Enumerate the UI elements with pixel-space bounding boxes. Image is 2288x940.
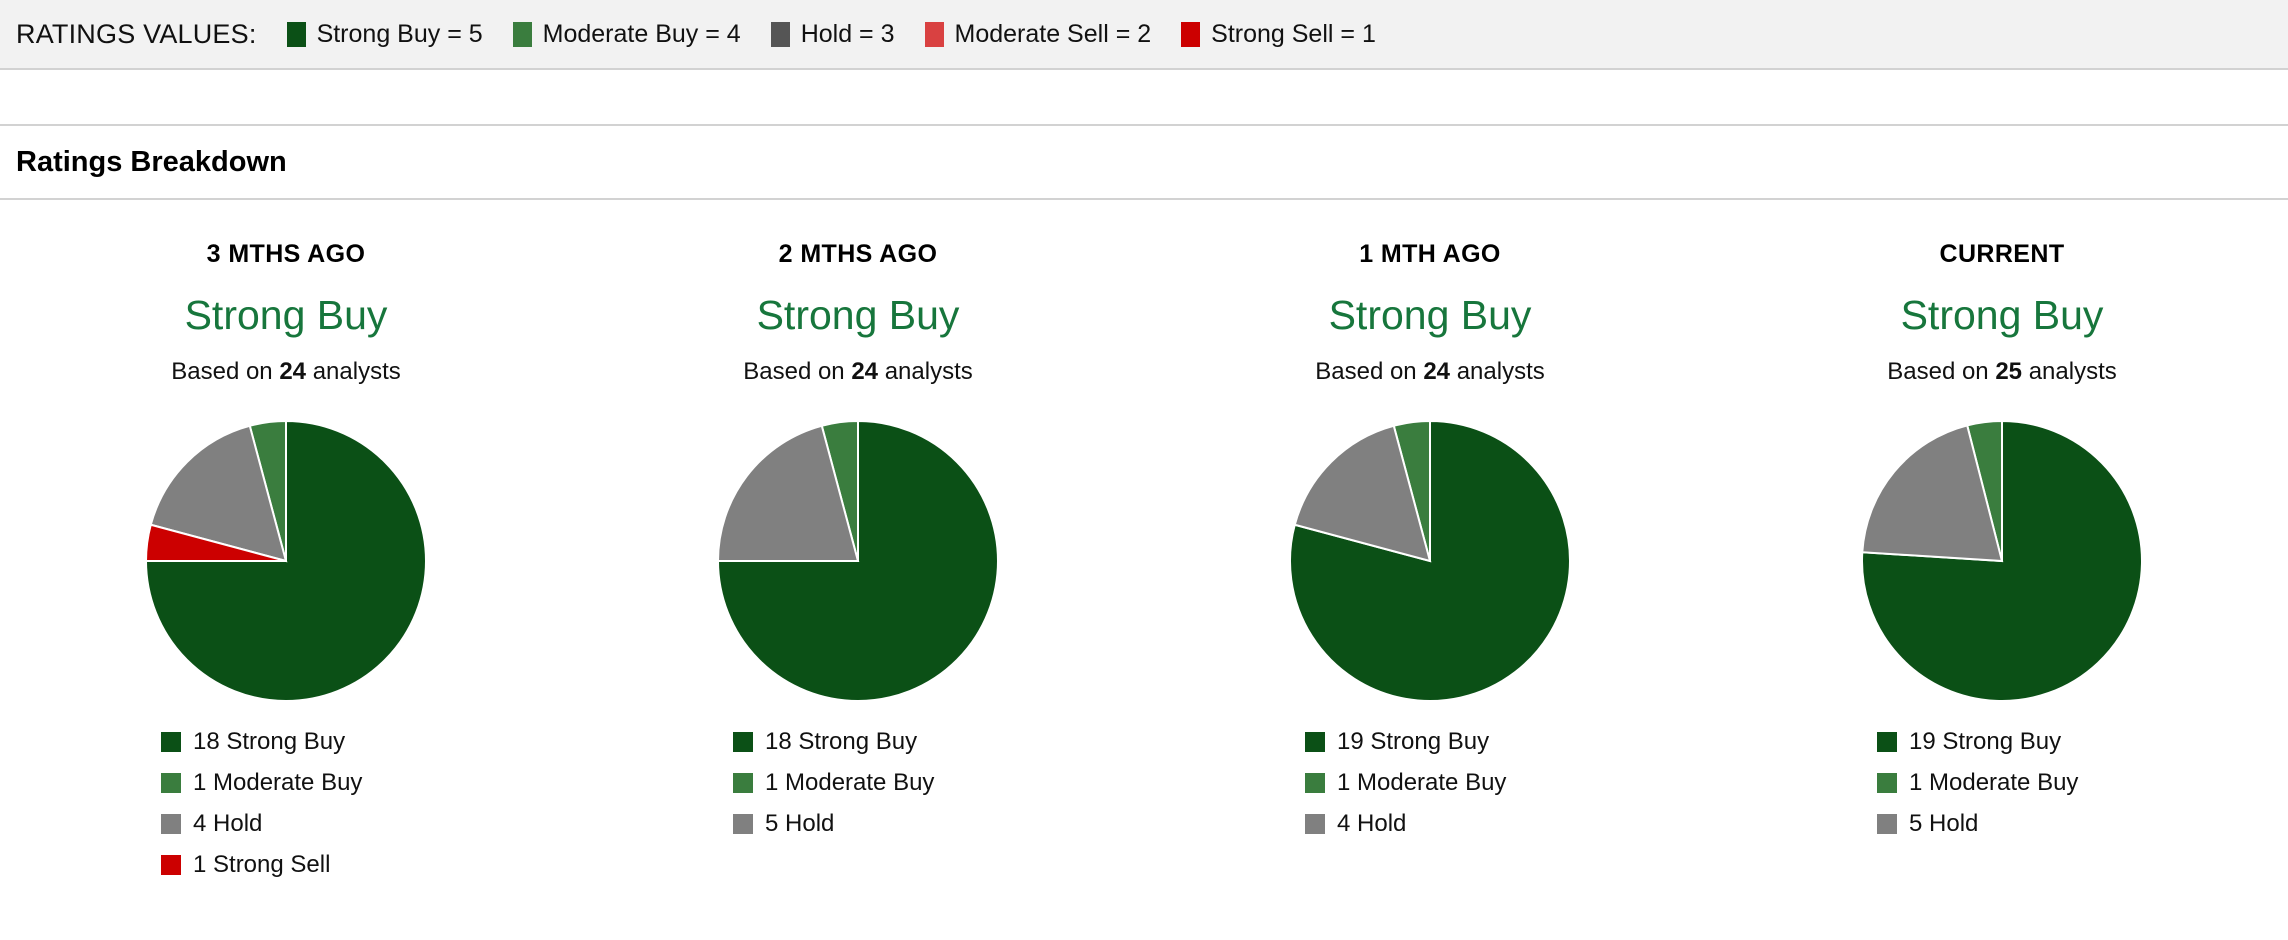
pie-chart-3-mths-ago[interactable] bbox=[141, 416, 431, 706]
column-consensus-rating: Strong Buy bbox=[757, 295, 960, 336]
column-period-label: 1 MTH AGO bbox=[1359, 240, 1501, 269]
pie-legend-label: 5 Hold bbox=[1909, 810, 1978, 838]
pie-legend-2-mths-ago: 18 Strong Buy1 Moderate Buy5 Hold bbox=[733, 728, 983, 838]
pie-legend-swatch-icon bbox=[1877, 732, 1897, 752]
pie-legend-swatch-icon bbox=[1305, 732, 1325, 752]
pie-legend-1-mth-ago: 19 Strong Buy1 Moderate Buy4 Hold bbox=[1305, 728, 1555, 838]
ratings-values-title: RATINGS VALUES: bbox=[16, 19, 257, 50]
pie-legend-row: 1 Moderate Buy bbox=[161, 769, 411, 797]
column-analyst-basis: Based on 25 analysts bbox=[1887, 358, 2117, 386]
ratings-value-strong-buy: Strong Buy = 5 bbox=[287, 20, 483, 49]
pie-chart-2-mths-ago[interactable] bbox=[713, 416, 1003, 706]
ratings-breakdown-header: Ratings Breakdown bbox=[0, 124, 2288, 200]
pie-legend-row: 18 Strong Buy bbox=[161, 728, 411, 756]
section-title: Ratings Breakdown bbox=[16, 146, 287, 179]
basis-prefix: Based on bbox=[1315, 358, 1423, 385]
pie-legend-label: 5 Hold bbox=[765, 810, 834, 838]
pie-legend-swatch-icon bbox=[733, 814, 753, 834]
pie-svg bbox=[1285, 416, 1575, 706]
ratings-value-label: Strong Sell = 1 bbox=[1211, 20, 1376, 49]
basis-suffix: analysts bbox=[306, 358, 401, 385]
pie-legend-row: 1 Moderate Buy bbox=[1305, 769, 1555, 797]
pie-legend-row: 18 Strong Buy bbox=[733, 728, 983, 756]
pie-legend-row: 4 Hold bbox=[161, 810, 411, 838]
column-period-label: 3 MTHS AGO bbox=[207, 240, 366, 269]
spacer bbox=[0, 70, 2288, 124]
swatch-strong-sell-icon bbox=[1181, 22, 1200, 47]
ratings-value-hold: Hold = 3 bbox=[771, 20, 895, 49]
pie-svg bbox=[141, 416, 431, 706]
pie-legend-label: 1 Moderate Buy bbox=[193, 769, 362, 797]
pie-legend-swatch-icon bbox=[1877, 814, 1897, 834]
basis-prefix: Based on bbox=[171, 358, 279, 385]
pie-legend-swatch-icon bbox=[1305, 773, 1325, 793]
analyst-count: 24 bbox=[279, 358, 306, 385]
column-consensus-rating: Strong Buy bbox=[1329, 295, 1532, 336]
pie-legend-swatch-icon bbox=[1305, 814, 1325, 834]
ratings-values-bar: RATINGS VALUES: Strong Buy = 5 Moderate … bbox=[0, 0, 2288, 70]
basis-suffix: analysts bbox=[1450, 358, 1545, 385]
pie-legend-label: 4 Hold bbox=[193, 810, 262, 838]
swatch-hold-icon bbox=[771, 22, 790, 47]
column-consensus-rating: Strong Buy bbox=[185, 295, 388, 336]
basis-prefix: Based on bbox=[743, 358, 851, 385]
column-analyst-basis: Based on 24 analysts bbox=[171, 358, 401, 386]
pie-legend-swatch-icon bbox=[161, 814, 181, 834]
pie-legend-label: 18 Strong Buy bbox=[765, 728, 917, 756]
pie-legend-label: 1 Moderate Buy bbox=[765, 769, 934, 797]
ratings-value-moderate-sell: Moderate Sell = 2 bbox=[925, 20, 1152, 49]
column-period-label: CURRENT bbox=[1939, 240, 2064, 269]
pie-legend-swatch-icon bbox=[161, 732, 181, 752]
pie-legend-swatch-icon bbox=[733, 732, 753, 752]
pie-legend-row: 5 Hold bbox=[1877, 810, 2127, 838]
ratings-breakdown-grid: 3 MTHS AGO Strong Buy Based on 24 analys… bbox=[0, 200, 2288, 879]
pie-chart-current[interactable] bbox=[1857, 416, 2147, 706]
pie-legend-row: 1 Moderate Buy bbox=[733, 769, 983, 797]
analyst-count: 25 bbox=[1995, 358, 2022, 385]
ratings-column-current: CURRENT Strong Buy Based on 25 analysts … bbox=[1716, 240, 2288, 879]
pie-chart-1-mth-ago[interactable] bbox=[1285, 416, 1575, 706]
pie-svg bbox=[713, 416, 1003, 706]
pie-legend-label: 1 Strong Sell bbox=[193, 851, 330, 879]
ratings-value-label: Hold = 3 bbox=[801, 20, 895, 49]
pie-legend-label: 1 Moderate Buy bbox=[1909, 769, 2078, 797]
basis-suffix: analysts bbox=[2022, 358, 2117, 385]
basis-prefix: Based on bbox=[1887, 358, 1995, 385]
pie-legend-label: 18 Strong Buy bbox=[193, 728, 345, 756]
pie-legend-row: 1 Strong Sell bbox=[161, 851, 411, 879]
pie-legend-row: 19 Strong Buy bbox=[1305, 728, 1555, 756]
ratings-value-label: Moderate Buy = 4 bbox=[543, 20, 741, 49]
ratings-value-label: Strong Buy = 5 bbox=[317, 20, 483, 49]
pie-legend-swatch-icon bbox=[1877, 773, 1897, 793]
column-consensus-rating: Strong Buy bbox=[1901, 295, 2104, 336]
pie-legend-row: 19 Strong Buy bbox=[1877, 728, 2127, 756]
pie-legend-current: 19 Strong Buy1 Moderate Buy5 Hold bbox=[1877, 728, 2127, 838]
pie-legend-row: 1 Moderate Buy bbox=[1877, 769, 2127, 797]
ratings-value-label: Moderate Sell = 2 bbox=[955, 20, 1152, 49]
pie-legend-swatch-icon bbox=[161, 773, 181, 793]
pie-legend-swatch-icon bbox=[733, 773, 753, 793]
swatch-moderate-buy-icon bbox=[513, 22, 532, 47]
pie-legend-label: 1 Moderate Buy bbox=[1337, 769, 1506, 797]
ratings-column-3-mths-ago: 3 MTHS AGO Strong Buy Based on 24 analys… bbox=[0, 240, 572, 879]
ratings-column-1-mth-ago: 1 MTH AGO Strong Buy Based on 24 analyst… bbox=[1144, 240, 1716, 879]
swatch-strong-buy-icon bbox=[287, 22, 306, 47]
analyst-count: 24 bbox=[1423, 358, 1450, 385]
ratings-value-moderate-buy: Moderate Buy = 4 bbox=[513, 20, 741, 49]
swatch-moderate-sell-icon bbox=[925, 22, 944, 47]
column-analyst-basis: Based on 24 analysts bbox=[743, 358, 973, 386]
pie-legend-label: 19 Strong Buy bbox=[1337, 728, 1489, 756]
column-analyst-basis: Based on 24 analysts bbox=[1315, 358, 1545, 386]
pie-legend-label: 4 Hold bbox=[1337, 810, 1406, 838]
pie-legend-label: 19 Strong Buy bbox=[1909, 728, 2061, 756]
pie-legend-row: 5 Hold bbox=[733, 810, 983, 838]
ratings-column-2-mths-ago: 2 MTHS AGO Strong Buy Based on 24 analys… bbox=[572, 240, 1144, 879]
column-period-label: 2 MTHS AGO bbox=[779, 240, 938, 269]
ratings-value-strong-sell: Strong Sell = 1 bbox=[1181, 20, 1376, 49]
basis-suffix: analysts bbox=[878, 358, 973, 385]
pie-svg bbox=[1857, 416, 2147, 706]
ratings-values-legend: Strong Buy = 5 Moderate Buy = 4 Hold = 3… bbox=[287, 20, 1376, 49]
analyst-count: 24 bbox=[851, 358, 878, 385]
pie-legend-swatch-icon bbox=[161, 855, 181, 875]
pie-legend-row: 4 Hold bbox=[1305, 810, 1555, 838]
pie-legend-3-mths-ago: 18 Strong Buy1 Moderate Buy4 Hold1 Stron… bbox=[161, 728, 411, 879]
